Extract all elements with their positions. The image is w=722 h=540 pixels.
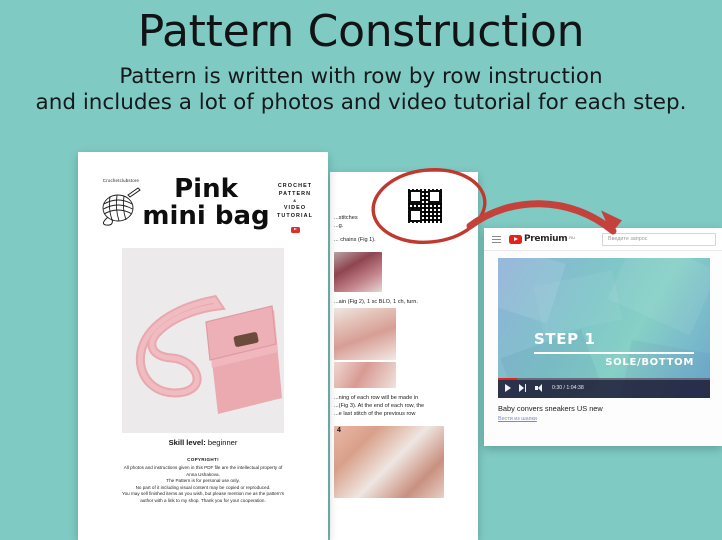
skill-level-value: beginner: [208, 438, 238, 447]
youtube-panel[interactable]: Premium RU Введите запрос STEP 1 SOLE/BO…: [484, 228, 722, 446]
search-placeholder: Введите запрос: [608, 236, 647, 242]
instruction-text-line-6: ...(Fig 3). At the end of each row, the: [334, 402, 424, 410]
volume-icon[interactable]: [535, 384, 544, 392]
subtitle-line-1: Pattern is written with row by row instr…: [119, 64, 602, 89]
video-overlay: STEP 1 SOLE/BOTTOM: [534, 330, 694, 368]
badge-line-3: VIDEO TUTORIAL: [270, 204, 320, 220]
cover-title-line-1: Pink: [140, 176, 272, 203]
skill-level-label: Skill level:: [169, 438, 206, 447]
copyright-line-4: No part of it including visual content m…: [94, 485, 312, 492]
instruction-photo-step-number: 4: [337, 427, 341, 434]
cover-product-photo: [122, 248, 284, 433]
video-background-facets: [498, 258, 710, 398]
video-subtitle-link[interactable]: Вести из шапки: [498, 416, 710, 422]
instruction-photo-4: 4: [334, 426, 444, 498]
copyright-line-2: Anna Ushakova.: [94, 472, 312, 479]
instruction-photo-2: [334, 308, 396, 360]
instruction-page[interactable]: ...stitches ...g. ... chains (Fig 1). ..…: [330, 172, 478, 540]
time-display: 0:30 / 1:04:38: [552, 385, 584, 391]
copyright-body: All photos and instructions given in thi…: [94, 465, 312, 505]
copyright-line-5: You may sell finished items as you wish,…: [94, 491, 312, 498]
cover-title: Pink mini bag: [140, 176, 272, 230]
copyright-line-1: All photos and instructions given in thi…: [94, 465, 312, 472]
copyright-line-3: The Pattern is for personal use only.: [94, 478, 312, 485]
instruction-text-line-4: ...ain (Fig 2), 1 sc BLO, 1 ch, turn.: [334, 298, 418, 306]
video-title: Baby convers sneakers US new: [498, 404, 710, 413]
youtube-region-label: RU: [569, 235, 575, 240]
page-subtitle: Pattern is written with row by row instr…: [0, 64, 722, 116]
cover-badge: CROCHET PATTERN & VIDEO TUTORIAL: [270, 182, 320, 238]
copyright-line-6: author with a link to my shop. Thank you…: [94, 498, 312, 505]
video-meta: Baby convers sneakers US new Вести из ша…: [498, 404, 710, 422]
qr-eye-bottom-left: [409, 209, 422, 222]
pointer-arrow: [470, 204, 613, 231]
badge-line-2: PATTERN: [270, 190, 320, 198]
skill-level-line: Skill level: beginner: [78, 438, 328, 447]
video-player[interactable]: STEP 1 SOLE/BOTTOM 0:30 / 1:04:38: [498, 258, 710, 398]
next-track-icon[interactable]: [519, 384, 527, 392]
youtube-logo[interactable]: Premium RU: [509, 234, 575, 244]
instruction-text-line-7: ...e last stitch of the previous row: [334, 410, 415, 418]
video-controls-bar[interactable]: 0:30 / 1:04:38: [498, 378, 710, 398]
instruction-photo-3: [334, 362, 396, 388]
youtube-icon: [291, 227, 300, 234]
video-overlay-title: STEP 1: [534, 330, 694, 348]
instruction-photo-1: [334, 252, 382, 292]
progress-bar[interactable]: [498, 378, 710, 380]
search-input[interactable]: Введите запрос: [602, 233, 716, 246]
hamburger-menu-icon[interactable]: [492, 236, 501, 243]
copyright-heading: COPYRIGHT!: [78, 457, 328, 462]
instruction-text-line-5: ...ning of each row will be made in: [334, 394, 418, 402]
badge-line-1: CROCHET: [270, 182, 320, 190]
youtube-header: Premium RU Введите запрос: [484, 228, 722, 251]
qr-code-icon[interactable]: [408, 189, 442, 223]
cover-title-line-2: mini bag: [140, 203, 272, 230]
instruction-text-line-3: ... chains (Fig 1).: [334, 236, 376, 244]
slide-canvas: Pattern Construction Pattern is written …: [0, 0, 722, 540]
progress-bar-fill: [498, 378, 517, 380]
video-overlay-subtitle: SOLE/BOTTOM: [534, 357, 694, 368]
instruction-text-line-2: ...g.: [334, 222, 343, 230]
instruction-text-line-1: ...stitches: [334, 214, 358, 222]
page-title: Pattern Construction: [0, 6, 722, 58]
youtube-play-icon: [509, 235, 522, 244]
youtube-premium-label: Premium: [524, 234, 567, 244]
video-overlay-rule: [534, 352, 694, 354]
subtitle-line-2: and includes a lot of photos and video t…: [0, 90, 722, 116]
cover-page[interactable]: Crochetclubstore Pink mini bag: [78, 152, 328, 540]
play-icon[interactable]: [505, 384, 511, 392]
